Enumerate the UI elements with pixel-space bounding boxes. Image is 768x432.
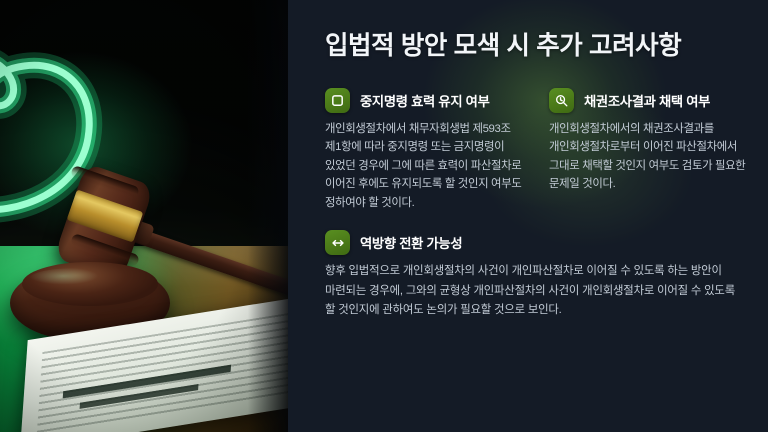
hero-photo <box>0 0 288 432</box>
consideration-cards: 중지명령 효력 유지 여부 개인회생절차에서 채무자회생법 제593조 제1항에… <box>325 88 746 321</box>
card-header: 중지명령 효력 유지 여부 <box>325 88 522 113</box>
card-reverse-conversion: 역방향 전환 가능성 향후 입법적으로 개인회생절차의 사건이 개인파산절차로 … <box>325 230 746 321</box>
stop-square-icon <box>325 88 350 113</box>
card-stop-order-effect: 중지명령 효력 유지 여부 개인회생절차에서 채무자회생법 제593조 제1항에… <box>325 88 522 212</box>
card-title: 역방향 전환 가능성 <box>360 233 462 252</box>
card-header: 역방향 전환 가능성 <box>325 230 746 255</box>
card-title: 채권조사결과 채택 여부 <box>584 91 710 110</box>
gavel-sound-block-highlight <box>30 268 126 288</box>
left-right-arrow-icon <box>325 230 350 255</box>
card-body: 향후 입법적으로 개인회생절차의 사건이 개인파산절차로 이어질 수 있도록 하… <box>325 262 746 321</box>
content-panel: 입법적 방안 모색 시 추가 고려사항 중지명령 효력 유지 여부 개인회생절차… <box>288 0 768 432</box>
card-body: 개인회생절차에서의 채권조사결과를 개인회생절차로부터 이어진 파산절차에서 그… <box>549 120 746 194</box>
card-claim-investigation-result: 채권조사결과 채택 여부 개인회생절차에서의 채권조사결과를 개인회생절차로부터… <box>549 88 746 212</box>
card-header: 채권조사결과 채택 여부 <box>549 88 746 113</box>
page-title: 입법적 방안 모색 시 추가 고려사항 <box>325 30 740 64</box>
card-body: 개인회생절차에서 채무자회생법 제593조 제1항에 따라 중지명령 또는 금지… <box>325 120 522 212</box>
card-title: 중지명령 효력 유지 여부 <box>360 91 490 110</box>
search-magnifier-icon <box>549 88 574 113</box>
slide-root: 입법적 방안 모색 시 추가 고려사항 중지명령 효력 유지 여부 개인회생절차… <box>0 0 768 432</box>
